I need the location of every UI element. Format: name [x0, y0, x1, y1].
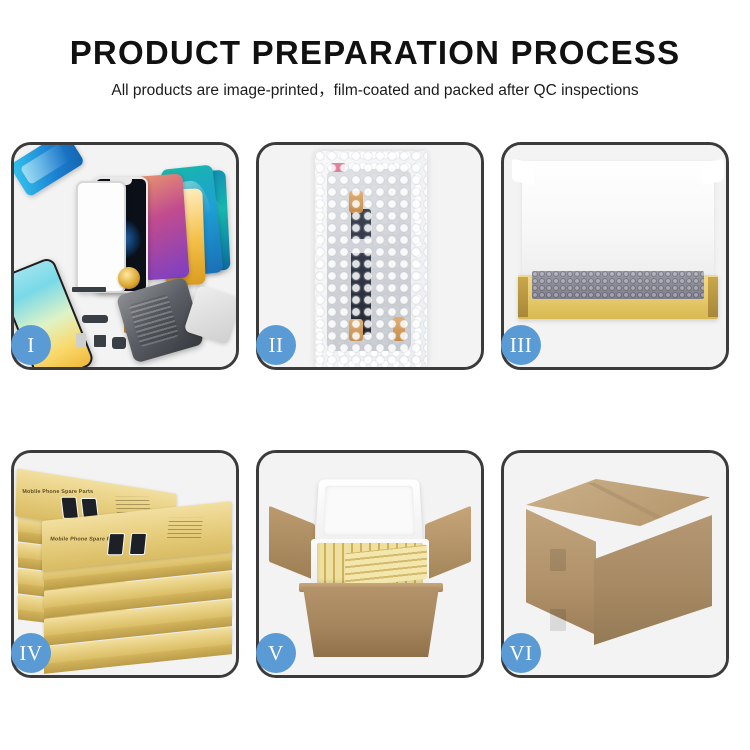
step-badge-3: III: [501, 325, 541, 365]
part-button: [94, 335, 106, 347]
box-lid-white: [522, 161, 714, 281]
carton-right-face: [594, 515, 712, 645]
step-panel-6: VI: [501, 450, 729, 678]
step-panel-5: V: [256, 450, 484, 678]
screen-adhesive-blue: [14, 145, 85, 198]
lid-tab-right: [702, 159, 724, 186]
connector-bottom-left: [349, 319, 363, 341]
part-bracket: [82, 315, 108, 323]
grey-foam-padding: [532, 271, 704, 299]
step-panel-4: Mobile Phone Spare Parts Mobile Phone Sp…: [11, 450, 239, 678]
tray-flap-left: [518, 277, 528, 317]
lid-tab-left: [512, 159, 534, 186]
carton-flap-left: [269, 506, 315, 581]
connector-bottom-right: [393, 317, 405, 341]
page-title: PRODUCT PREPARATION PROCESS: [0, 36, 750, 69]
carton-tape-lower: [550, 609, 566, 631]
infographic-page: PRODUCT PREPARATION PROCESS All products…: [0, 0, 750, 750]
header: PRODUCT PREPARATION PROCESS All products…: [0, 0, 750, 99]
flex-cable: [351, 209, 371, 335]
step-panel-1: I: [11, 142, 239, 370]
step-badge-1: I: [11, 325, 51, 365]
carton-tape-upper: [550, 549, 566, 571]
process-steps-grid: I II: [11, 142, 739, 678]
part-strip: [72, 287, 106, 292]
part-speaker: [112, 337, 126, 349]
box-art-screen-left: [107, 533, 125, 555]
page-subtitle: All products are image-printed，film-coat…: [0, 83, 750, 99]
connector-top: [349, 191, 363, 213]
box-art-screen-right: [129, 533, 147, 555]
part-gold-coil: [118, 267, 140, 289]
step-badge-6: VI: [501, 633, 541, 673]
step-panel-2: II: [256, 142, 484, 370]
part-sim-tray: [76, 333, 86, 347]
box-art-textlines: [167, 518, 203, 538]
retail-box-label: Mobile Phone Spare Parts: [22, 489, 94, 495]
carton-flap-right: [425, 506, 471, 581]
pink-qc-label: [331, 163, 345, 172]
step-panel-3: III: [501, 142, 729, 370]
carton-front-panel: [303, 587, 439, 657]
foam-box-lid: [315, 479, 423, 543]
tray-flap-right: [708, 277, 718, 317]
step-badge-5: V: [256, 633, 296, 673]
box-art-screen-left: [60, 497, 79, 519]
bubble-wrap-bag: [315, 151, 427, 367]
step-badge-4: IV: [11, 633, 51, 673]
step-badge-2: II: [256, 325, 296, 365]
